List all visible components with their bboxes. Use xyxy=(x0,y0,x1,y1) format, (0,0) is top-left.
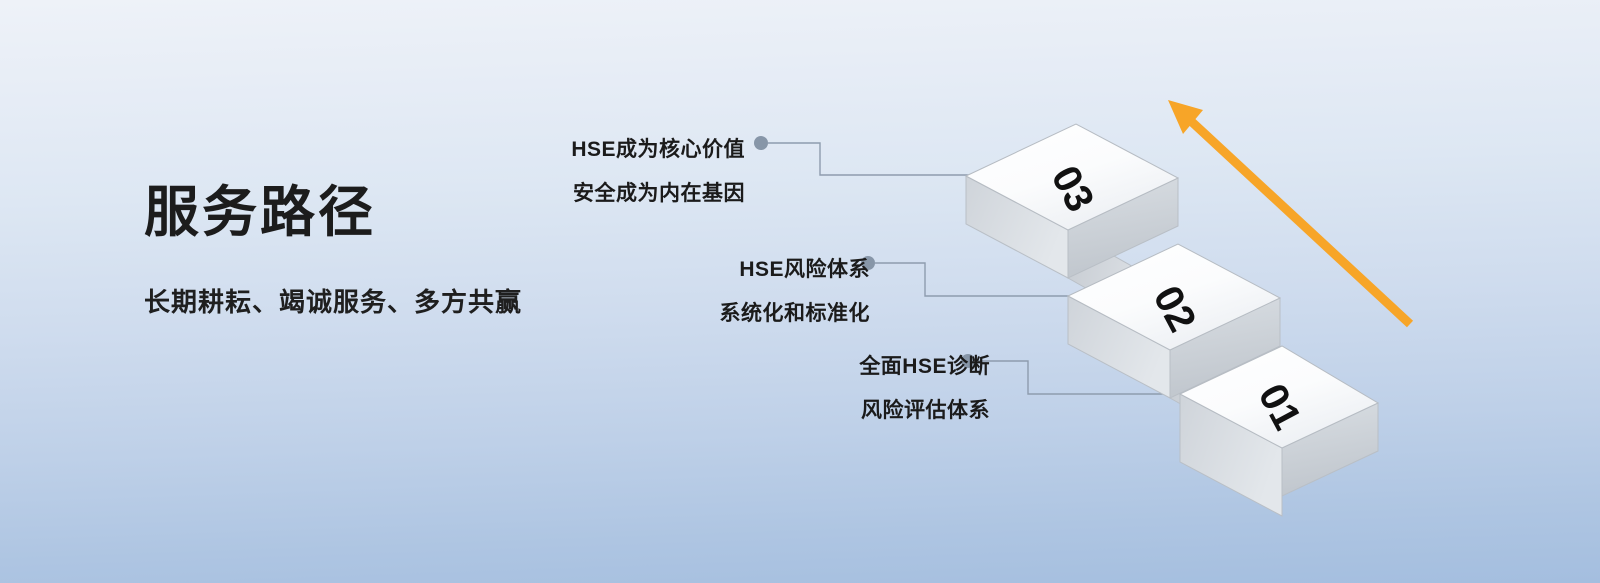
connector-line-step-3 xyxy=(754,136,970,175)
step-label-03-line2: 安全成为内在基因 xyxy=(571,172,745,216)
slide-canvas: 服务路径 长期耕耘、竭诚服务、多方共赢 xyxy=(0,0,1600,583)
step-label-01-line2: 风险评估体系 xyxy=(859,389,990,433)
step-label-02: HSE风险体系 系统化和标准化 xyxy=(720,248,871,336)
connector-dot-step-3 xyxy=(754,136,768,150)
step-label-03-line1: HSE成为核心价值 xyxy=(571,138,745,161)
step-label-01-line1: 全面HSE诊断 xyxy=(859,355,990,378)
step-label-03: HSE成为核心价值 安全成为内在基因 xyxy=(571,128,745,216)
step-label-02-line2: 系统化和标准化 xyxy=(720,292,871,336)
step-label-02-line1: HSE风险体系 xyxy=(739,258,870,281)
step-label-01: 全面HSE诊断 风险评估体系 xyxy=(859,345,990,433)
service-path-diagram: 03 02 xyxy=(0,0,1600,583)
